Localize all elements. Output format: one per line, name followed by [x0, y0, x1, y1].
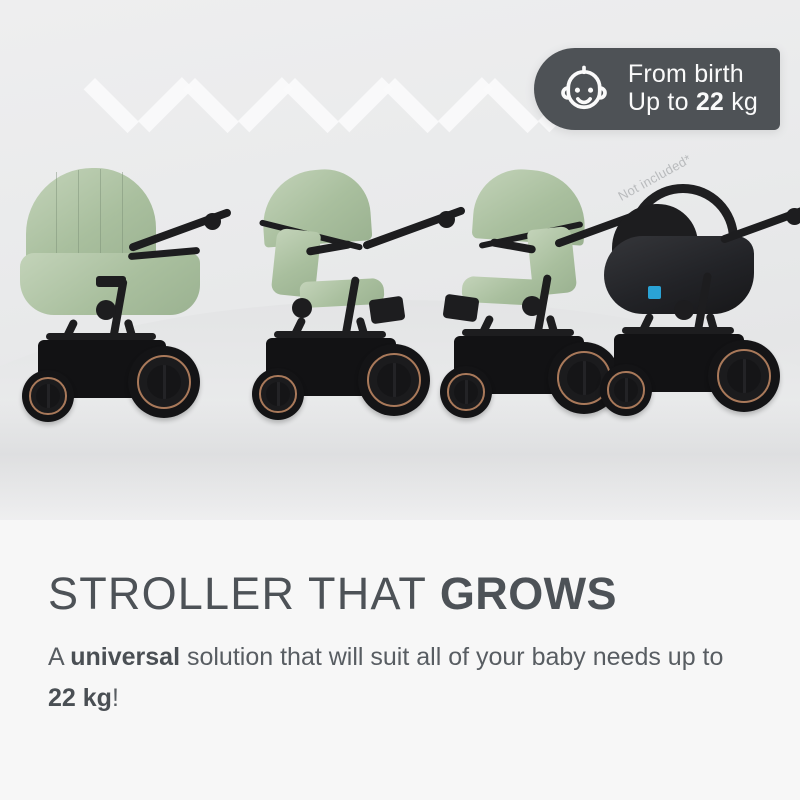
handlebar-joint — [204, 213, 221, 230]
rear-wheel — [708, 340, 780, 412]
product-scene: Not included* — [0, 0, 800, 520]
subtitle-weight: 22 kg — [48, 684, 112, 712]
front-wheel — [600, 364, 652, 416]
badge-line-weight: Up to 22 kg — [628, 88, 758, 116]
badge-weight-unit: kg — [724, 88, 758, 116]
front-wheel — [22, 370, 74, 422]
subtitle-part-a: A — [48, 643, 70, 671]
rear-wheel — [358, 344, 430, 416]
subtitle: A universal solution that will suit all … — [48, 637, 748, 718]
frame-hub — [292, 298, 312, 318]
frame-axle-bar — [274, 331, 386, 338]
footrest — [368, 296, 405, 324]
page-title: STROLLER THAT GROWS — [48, 568, 617, 620]
stroller-config-carrycot — [8, 158, 228, 458]
badge-weight-prefix: Up to — [628, 88, 696, 116]
frame-axle-bar — [46, 333, 156, 340]
baby-face-icon — [556, 60, 612, 116]
copy-section: STROLLER THAT GROWS A universal solution… — [0, 520, 800, 800]
rear-wheel — [128, 346, 200, 418]
frame-axle-bar — [462, 329, 574, 336]
handlebar-joint — [786, 208, 800, 225]
frame-axle-bar — [622, 327, 734, 334]
subtitle-universal: universal — [70, 643, 180, 671]
badge-line-from-birth: From birth — [628, 60, 758, 88]
subtitle-part-c: solution that will suit all of your baby… — [180, 643, 723, 671]
headline-light-part: STROLLER THAT — [48, 568, 440, 619]
frame-hub — [96, 300, 116, 320]
age-weight-badge: From birth Up to 22 kg — [534, 48, 780, 130]
car-seat-brand-label — [648, 286, 661, 299]
front-wheel — [252, 368, 304, 420]
headline-bold-part: GROWS — [440, 568, 617, 619]
stroller-config-seat-rear-facing — [248, 158, 458, 458]
stroller-config-infant-car-seat: Not included* — [600, 158, 800, 458]
product-feature-poster: Not included* — [0, 0, 800, 800]
badge-text: From birth Up to 22 kg — [628, 60, 758, 116]
frame-hub — [522, 296, 542, 316]
front-wheel — [440, 366, 492, 418]
badge-weight-value: 22 — [696, 88, 724, 116]
frame-hub — [674, 300, 694, 320]
footrest — [442, 294, 479, 322]
subtitle-part-e: ! — [112, 684, 119, 712]
